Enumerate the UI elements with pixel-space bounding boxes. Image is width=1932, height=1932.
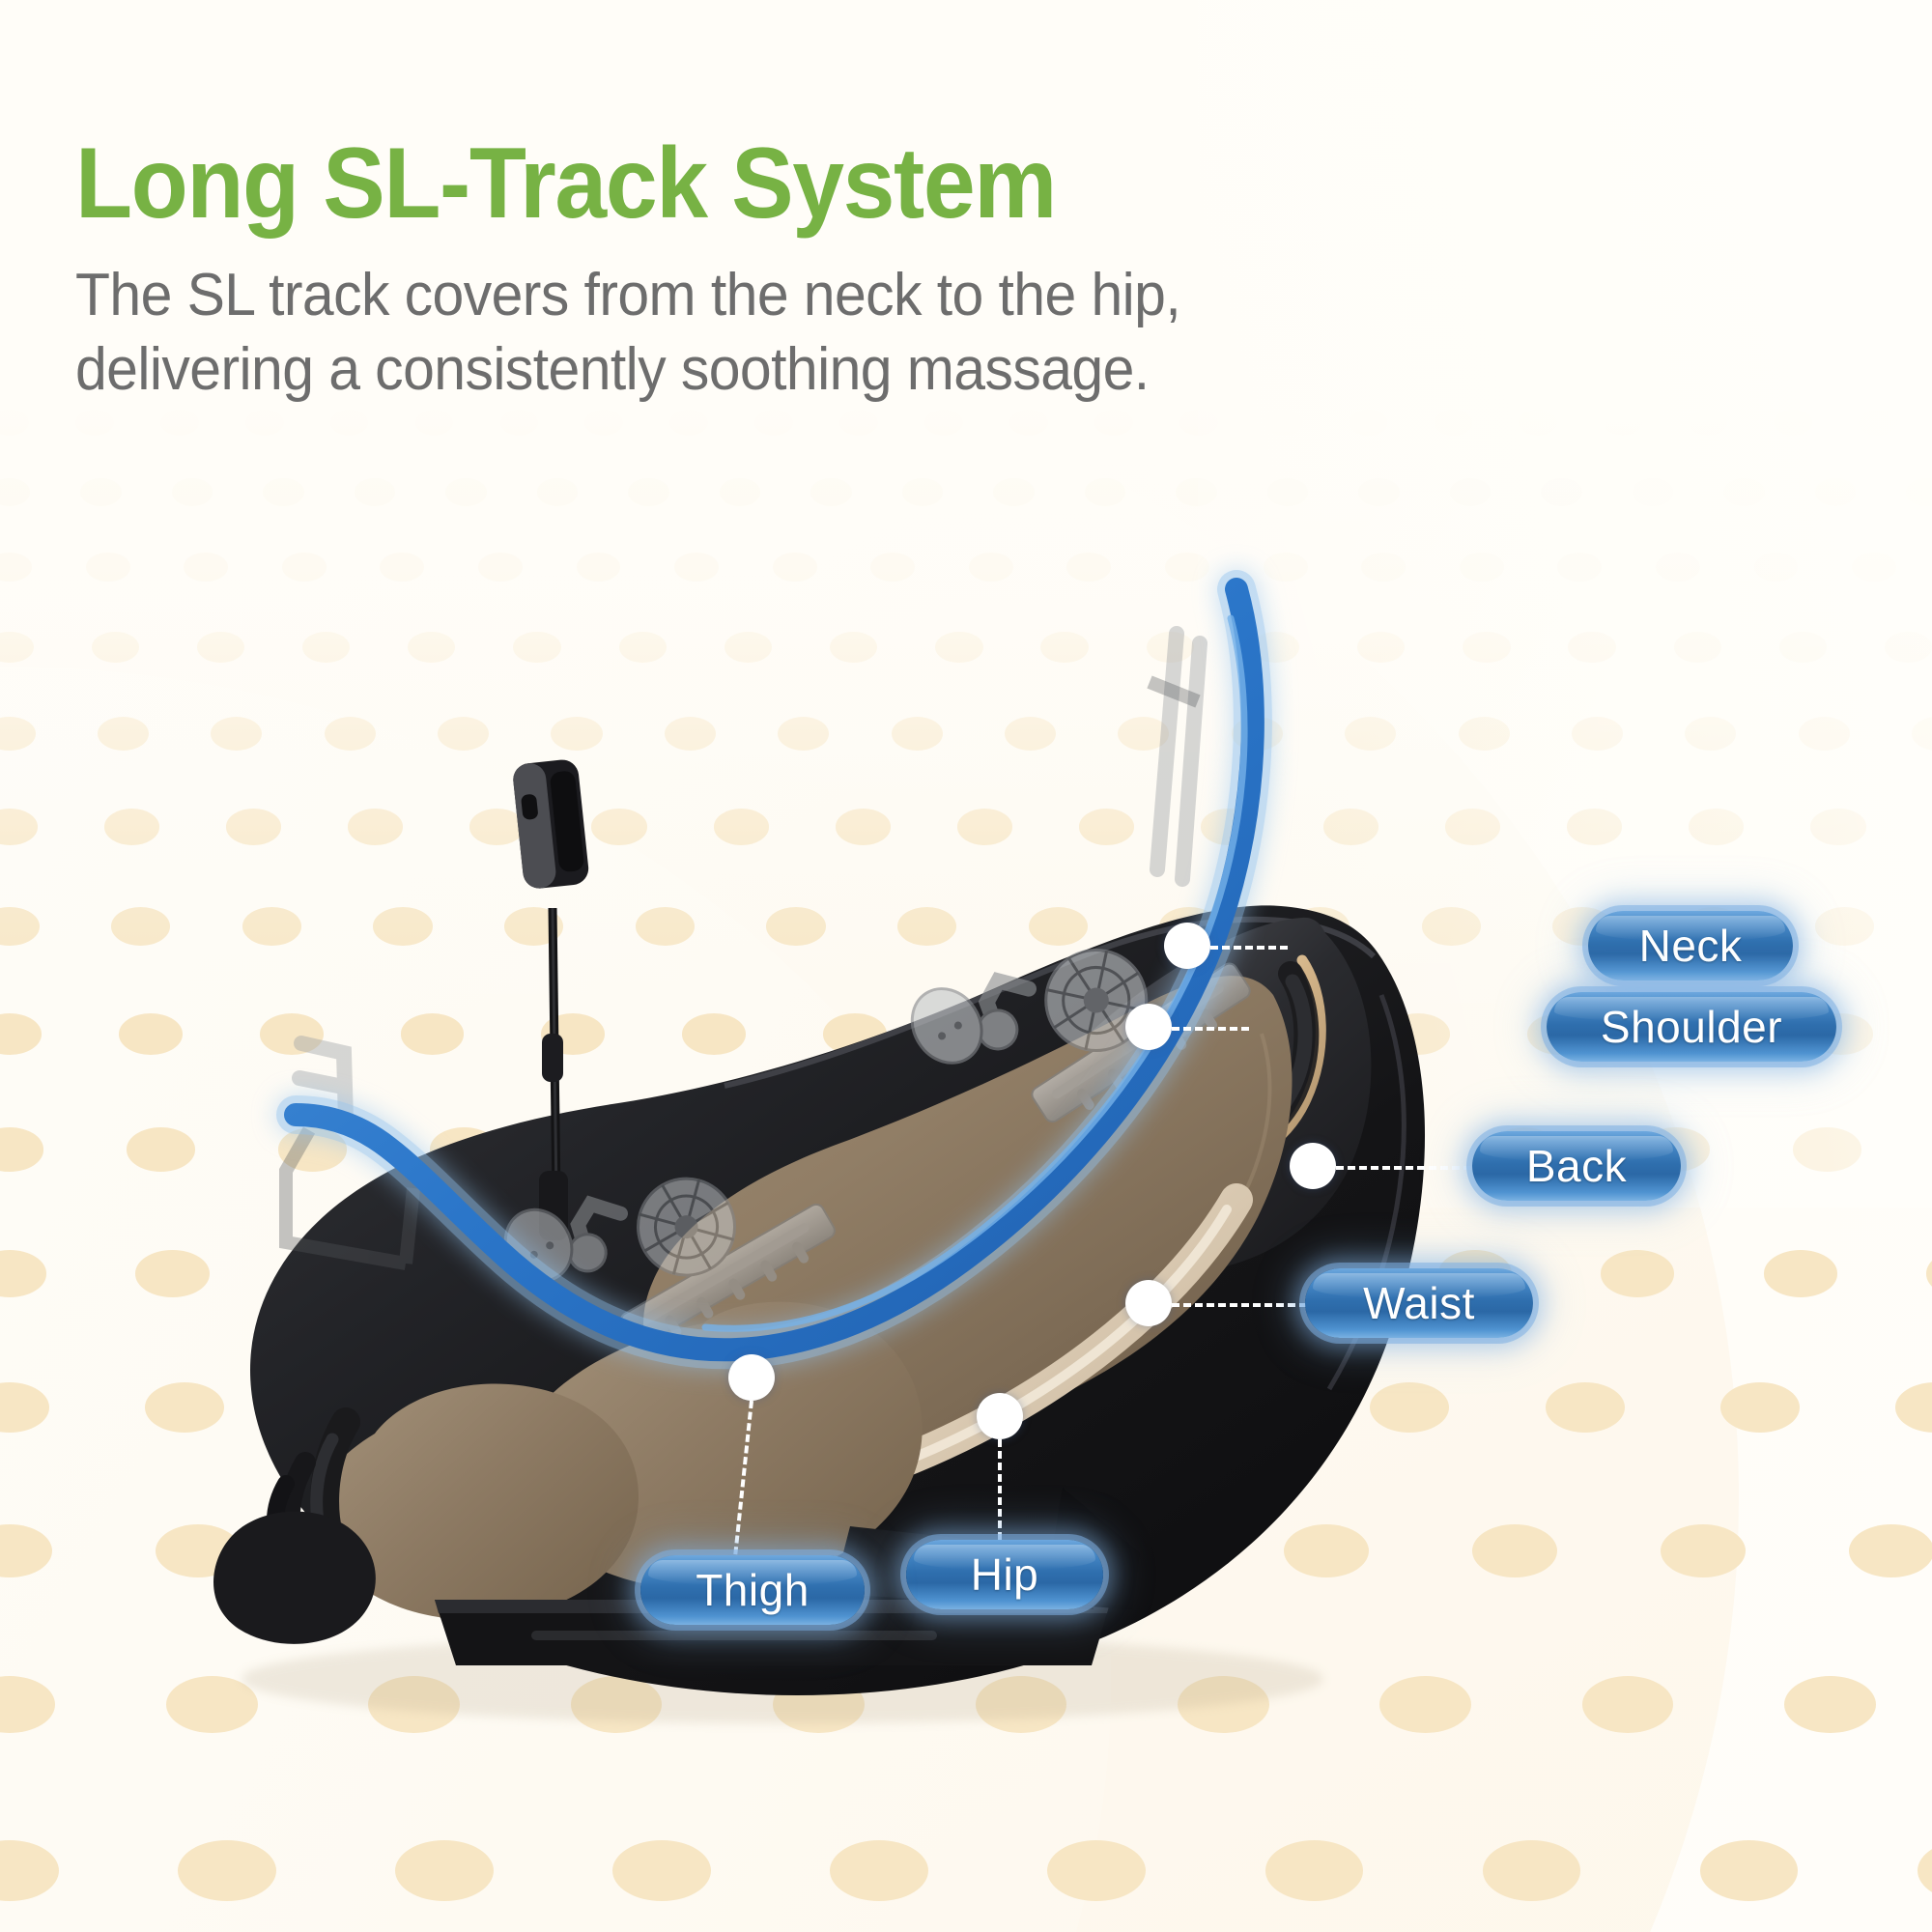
callout-label-thigh: Thigh [696,1564,810,1616]
callout-leader-waist [1172,1303,1307,1307]
callout-badge-neck[interactable]: Neck [1588,911,1793,980]
callout-leader-hip [998,1439,1002,1540]
callout-dot-back[interactable] [1290,1143,1336,1189]
callout-dot-neck[interactable] [1164,923,1210,969]
callout-dot-hip[interactable] [977,1393,1023,1439]
callout-dot-thigh[interactable] [728,1354,775,1401]
callout-badge-hip[interactable]: Hip [906,1540,1103,1609]
callout-label-waist: Waist [1363,1277,1475,1329]
callout-leader-thigh [733,1401,753,1555]
callout-label-neck: Neck [1639,920,1743,972]
callout-badge-shoulder[interactable]: Shoulder [1547,992,1836,1062]
callout-leader-neck [1210,946,1288,950]
callout-dot-waist[interactable] [1125,1280,1172,1326]
callout-badge-waist[interactable]: Waist [1305,1268,1533,1338]
callout-dot-shoulder[interactable] [1125,1004,1172,1050]
callout-layer: NeckShoulderBackWaistHipThigh [0,0,1932,1932]
callout-leader-back [1336,1166,1471,1170]
callout-leader-shoulder [1172,1027,1249,1031]
infographic-canvas: Long SL-Track System The SL track covers… [0,0,1932,1932]
callout-label-back: Back [1526,1140,1627,1192]
callout-label-hip: Hip [971,1548,1039,1601]
callout-label-shoulder: Shoulder [1601,1001,1782,1053]
callout-badge-thigh[interactable]: Thigh [640,1555,865,1625]
callout-badge-back[interactable]: Back [1472,1131,1681,1201]
